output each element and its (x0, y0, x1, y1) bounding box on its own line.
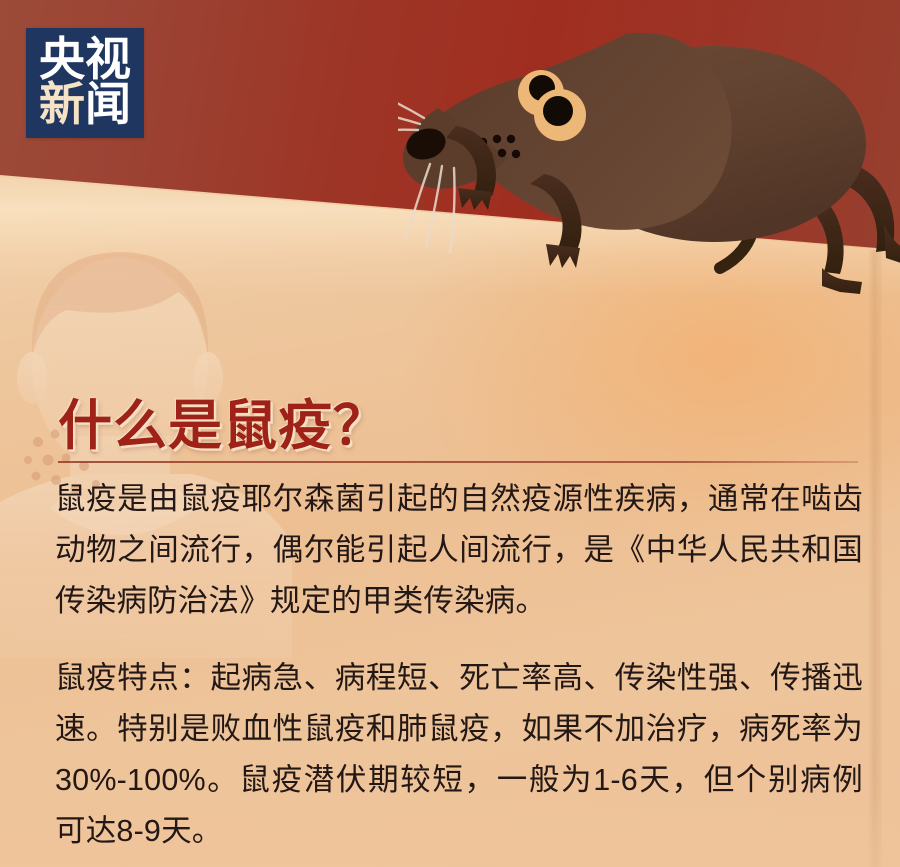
poster-root: 央 视 新 闻 什么是鼠疫？ 鼠疫是由鼠疫耶尔森菌引起的自然疫源性疾病，通常在啮… (0, 0, 900, 867)
logo-line-2: 新 闻 (39, 82, 131, 127)
paragraph-definition: 鼠疫是由鼠疫耶尔森菌引起的自然疫源性疾病，通常在啮齿动物之间流行，偶尔能引起人间… (55, 474, 863, 627)
background-card-edge (868, 250, 882, 867)
article-body: 鼠疫是由鼠疫耶尔森菌引起的自然疫源性疾病，通常在啮齿动物之间流行，偶尔能引起人间… (55, 474, 863, 857)
rat-illustration (398, 0, 900, 296)
cctv-news-logo[interactable]: 央 视 新 闻 (26, 28, 144, 138)
logo-char-wen: 闻 (85, 82, 131, 127)
logo-line-1: 央 视 (39, 37, 131, 82)
logo-char-shi: 视 (85, 37, 131, 82)
logo-char-yang: 央 (39, 37, 85, 82)
page-title: 什么是鼠疫？ (58, 398, 388, 455)
logo-char-xin: 新 (39, 82, 85, 127)
paragraph-characteristics: 鼠疫特点：起病急、病程短、死亡率高、传染性强、传播迅速。特别是败血性鼠疫和肺鼠疫… (55, 653, 863, 857)
rat-eye-right-pupil (543, 96, 573, 126)
title-divider (58, 461, 858, 463)
